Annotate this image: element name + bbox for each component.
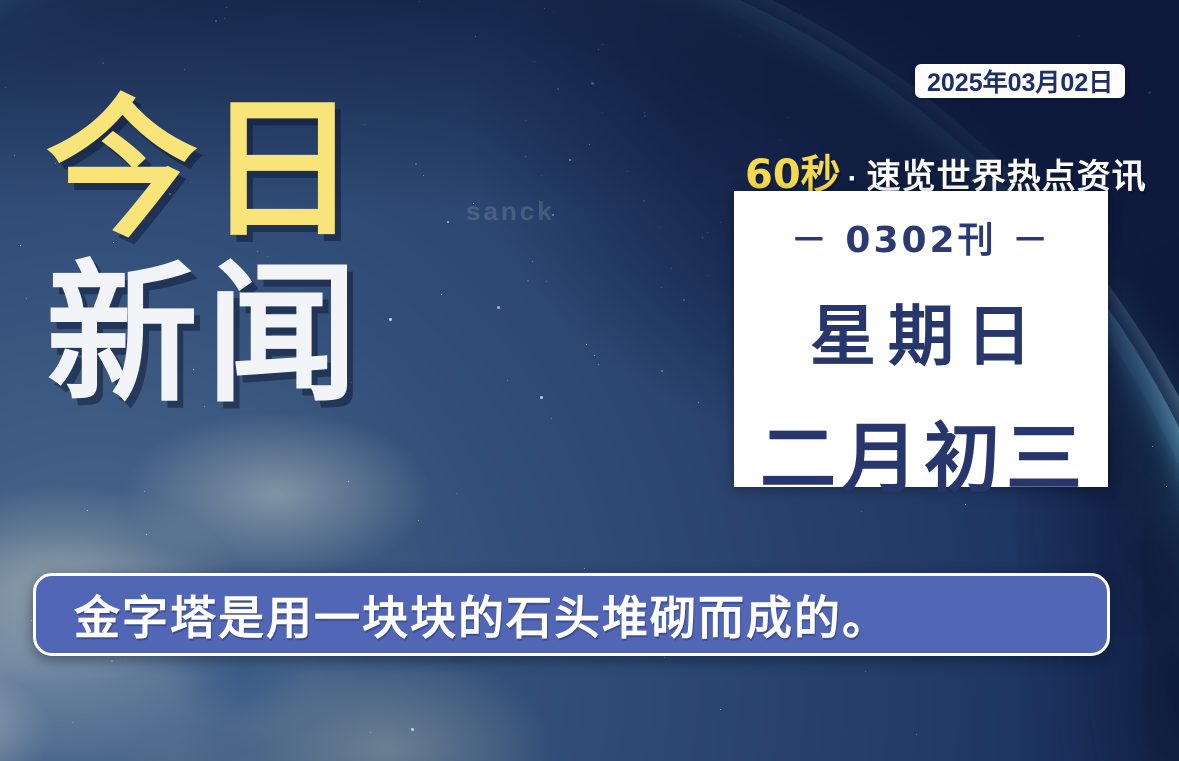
title-line-today: 今日 [46, 96, 476, 245]
watermark-text: sanck [466, 196, 555, 227]
title-line-news: 新闻 [46, 261, 476, 410]
quote-text: 金字塔是用一块块的石头堆砌而成的。 [74, 582, 890, 648]
date-badge: 2025年03月02日 [915, 64, 1125, 98]
weekday-label: 星期日 [798, 283, 1044, 379]
date-badge-label: 2025年03月02日 [927, 63, 1113, 99]
lunar-date-label: 二月初三 [754, 397, 1088, 507]
news-poster: 今日 新闻 sanck 2025年03月02日 60秒 · 速览世界热点资讯 －… [0, 0, 1179, 761]
poster-title: 今日 新闻 [46, 96, 476, 410]
date-info-card: － 0302刊 － 星期日 二月初三 [734, 191, 1108, 487]
quote-banner: 金字塔是用一块块的石头堆砌而成的。 [33, 573, 1110, 656]
issue-number: － 0302刊 － [791, 211, 1051, 263]
